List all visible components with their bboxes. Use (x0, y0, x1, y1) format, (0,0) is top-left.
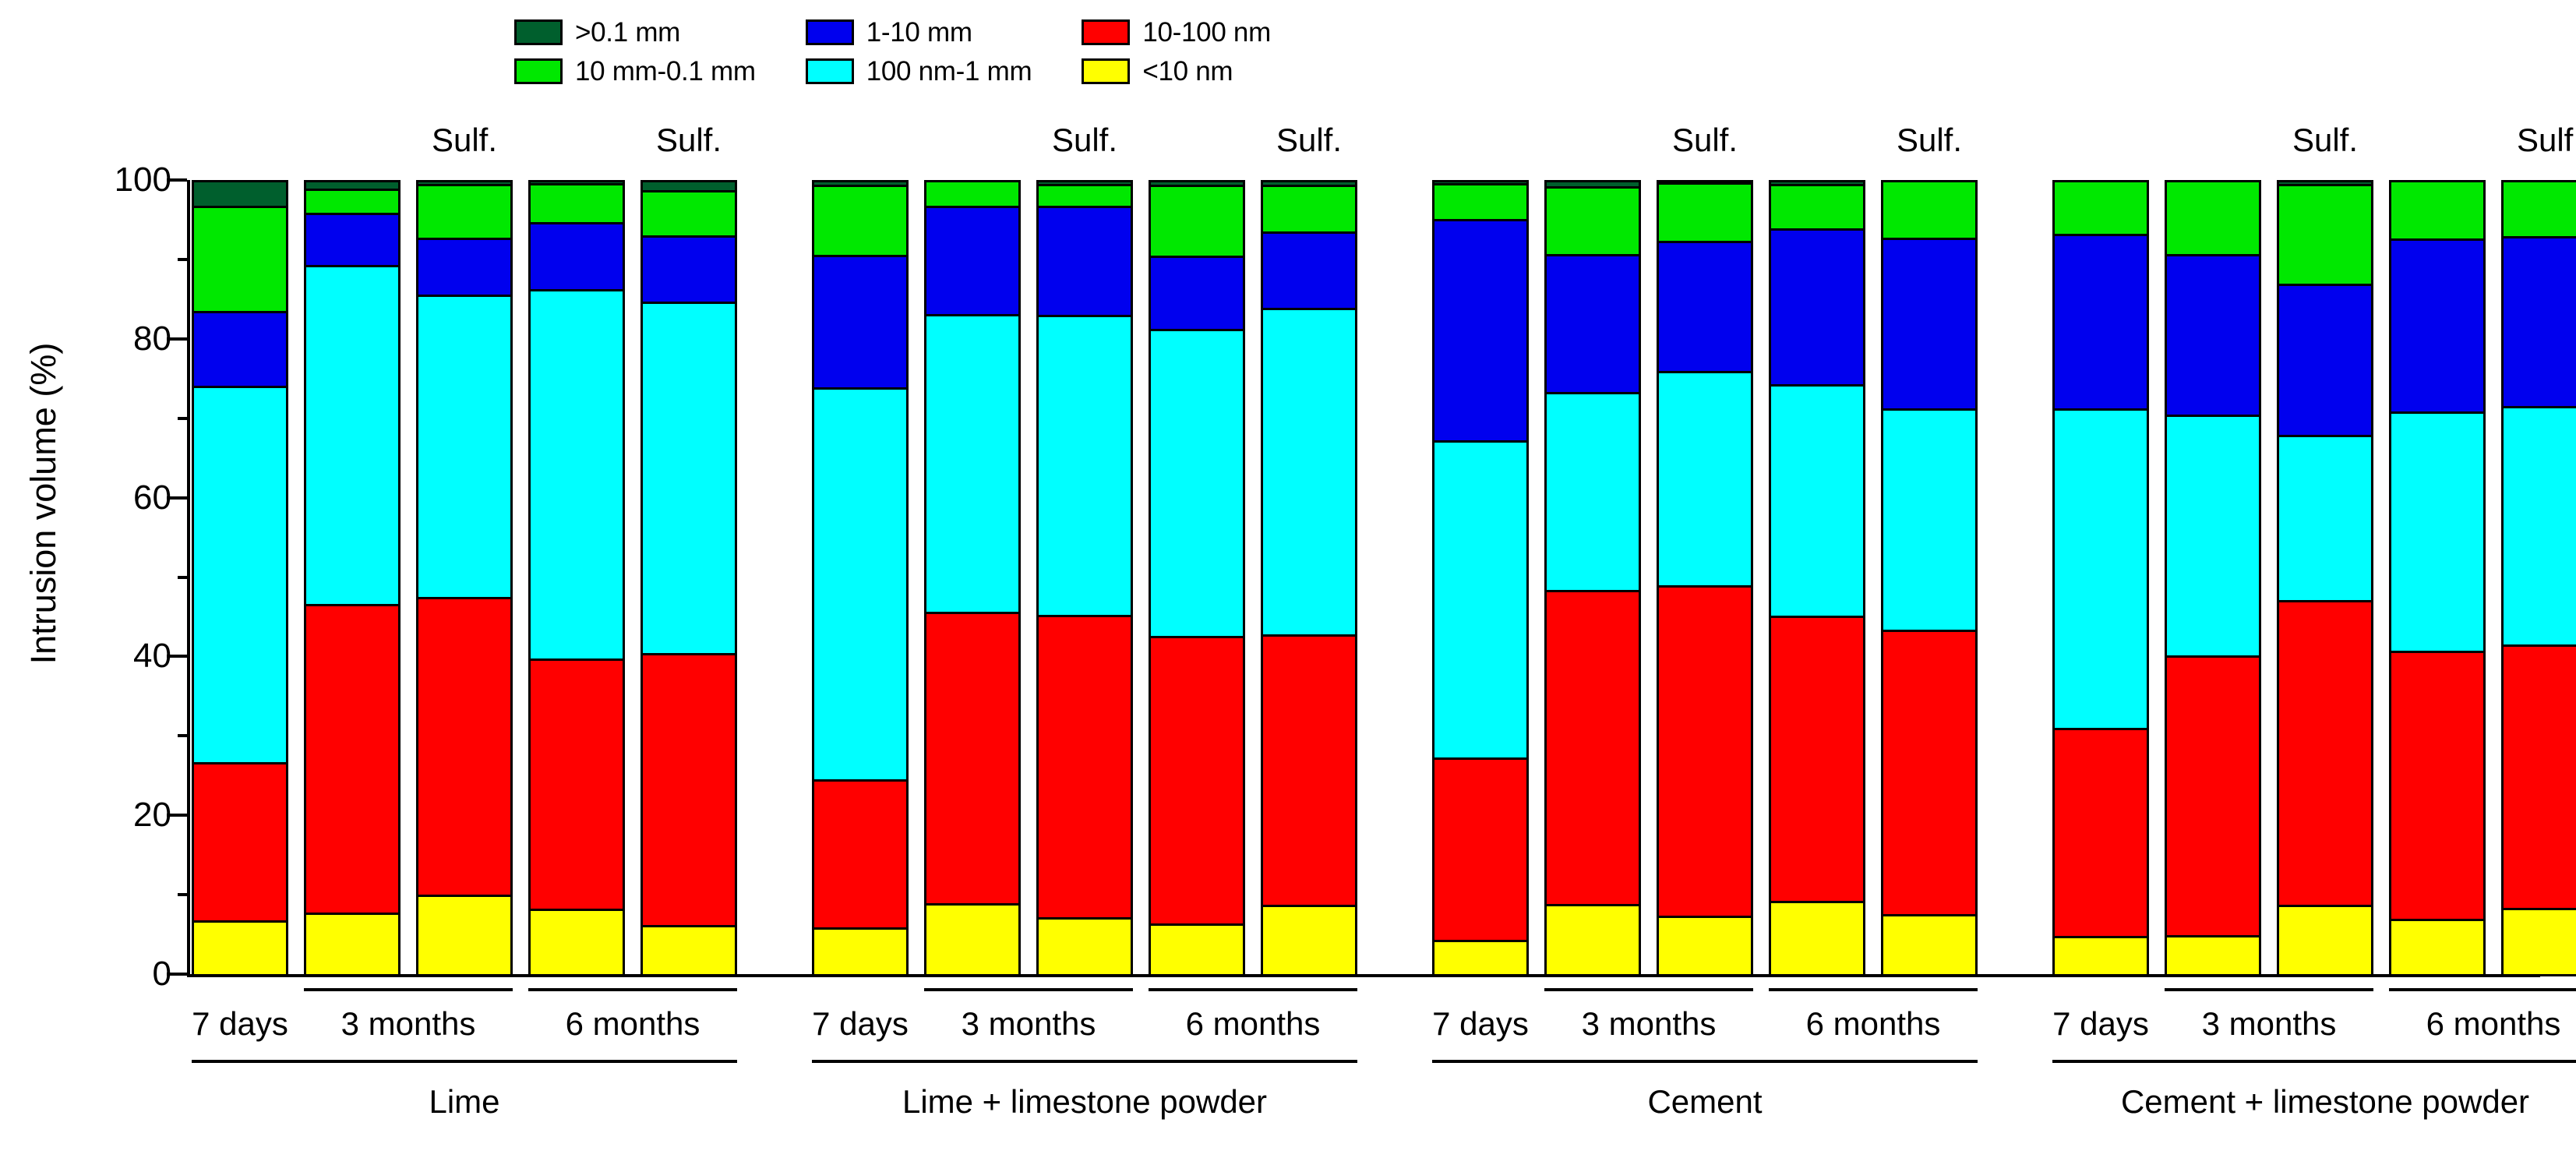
y-tick-label: 60 (55, 481, 171, 515)
sulf-annotation: Sulf. (1672, 122, 1738, 159)
bar-segment[interactable] (2389, 238, 2486, 413)
bar-segment[interactable] (2277, 905, 2373, 976)
bar-segment[interactable] (2052, 180, 2149, 236)
bar-segment[interactable] (1261, 185, 1357, 234)
bar-segment[interactable] (1544, 254, 1641, 394)
bar-segment[interactable] (192, 386, 288, 764)
y-tick-major (167, 814, 187, 817)
bar-segment[interactable] (1544, 186, 1641, 256)
material-group-rule (2052, 1060, 2576, 1063)
bar-segment[interactable] (812, 927, 909, 976)
bar-segment[interactable] (1881, 914, 1978, 976)
bar-segment[interactable] (1769, 384, 1865, 619)
bar-limelsp-3m[interactable] (924, 180, 1021, 974)
bar-segment[interactable] (1149, 329, 1245, 638)
bar-segment[interactable] (192, 206, 288, 314)
bar-segment[interactable] (1432, 183, 1529, 221)
bar-segment[interactable] (1544, 180, 1641, 189)
bar-limelsp-7d[interactable] (812, 180, 909, 974)
bar-segment[interactable] (2052, 728, 2149, 938)
time-label: 6 months (1186, 1005, 1321, 1043)
material-group-label: Cement + limestone powder (2121, 1083, 2529, 1121)
bar-cemlsp-3m[interactable] (2165, 180, 2261, 974)
bar-segment[interactable] (2052, 234, 2149, 411)
y-tick-minor (178, 417, 188, 420)
bar-segment[interactable] (1657, 241, 1753, 372)
bar-segment[interactable] (812, 387, 909, 782)
time-group-rule (924, 988, 1133, 991)
bar-segment[interactable] (640, 235, 737, 304)
bar-segment[interactable] (1657, 585, 1753, 918)
bar-segment[interactable] (1657, 916, 1753, 976)
material-group-rule (1432, 1060, 1978, 1063)
bar-segment[interactable] (192, 920, 288, 976)
bar-segment[interactable] (528, 658, 625, 911)
chart-legend: >0.1 mm1-10 mm10-100 nm10 mm-0.1 mm100 n… (514, 14, 1271, 89)
bar-cemlsp-3m-s[interactable]: Sulf. (2277, 180, 2373, 974)
time-label: 7 days (192, 1005, 288, 1043)
bar-segment[interactable] (640, 925, 737, 976)
bar-segment[interactable] (924, 206, 1021, 317)
bar-segment[interactable] (416, 597, 513, 897)
bar-segment[interactable] (640, 180, 737, 192)
legend-swatch (514, 19, 563, 45)
y-tick-label: 0 (55, 957, 171, 991)
y-tick-major (167, 337, 187, 341)
bar-segment[interactable] (192, 180, 288, 208)
bar-segment[interactable] (2277, 184, 2373, 286)
y-tick-minor (178, 576, 188, 579)
bar-segment[interactable] (304, 213, 401, 267)
y-tick-major (167, 496, 187, 500)
time-label: 6 months (1806, 1005, 1941, 1043)
bar-segment[interactable] (2052, 936, 2149, 976)
bar-segment[interactable] (304, 180, 401, 191)
legend-label: >0.1 mm (575, 19, 680, 46)
legend-label: <10 nm (1142, 58, 1233, 85)
bar-segment[interactable] (1149, 923, 1245, 976)
bar-segment[interactable] (1261, 905, 1357, 976)
bar-lime-6m-sulf[interactable]: Sulf. (640, 180, 737, 974)
bar-segment[interactable] (1881, 238, 1978, 411)
bar-segment[interactable] (304, 913, 401, 976)
legend-label: 10-100 nm (1142, 19, 1271, 46)
time-group-rule (1149, 988, 1357, 991)
y-tick-major (167, 178, 187, 182)
bar-segment[interactable] (2052, 408, 2149, 730)
bar-segment[interactable] (1769, 184, 1865, 231)
chart-plot-area: >0.1 mm1-10 mm10-100 nm10 mm-0.1 mm100 n… (0, 0, 2576, 1151)
bar-segment[interactable] (924, 180, 1021, 208)
bar-cem-6m-sulf[interactable]: Sulf. (1881, 180, 1978, 974)
bar-cem-7d[interactable] (1432, 180, 1529, 974)
bar-segment[interactable] (640, 653, 737, 927)
bar-segment[interactable] (528, 183, 625, 224)
bar-segment[interactable] (812, 779, 909, 930)
sulf-annotation: Sulf. (2517, 122, 2576, 159)
time-label: 7 days (1432, 1005, 1529, 1043)
bar-segment[interactable] (2165, 415, 2261, 658)
bar-segment[interactable] (812, 180, 909, 187)
bar-segment[interactable] (2389, 411, 2486, 654)
y-tick-label: 100 (55, 163, 171, 197)
bar-segment[interactable] (1432, 940, 1529, 976)
bar-limelsp-6m-s[interactable]: Sulf. (1261, 180, 1357, 974)
bar-segment[interactable] (1036, 315, 1133, 617)
bar-segment[interactable] (528, 909, 625, 976)
legend-label: 100 nm-1 mm (866, 58, 1032, 85)
bar-segment[interactable] (2501, 236, 2576, 408)
bar-segment[interactable] (1544, 904, 1641, 976)
material-group-label: Cement (1647, 1083, 1762, 1121)
bar-segment[interactable] (1036, 615, 1133, 919)
material-group-label: Lime + limestone powder (902, 1083, 1267, 1121)
bar-lime-7d[interactable] (192, 180, 288, 974)
legend-label: 1-10 mm (866, 19, 972, 46)
time-group-rule (1544, 988, 1753, 991)
bar-segment[interactable] (416, 238, 513, 296)
time-label: 3 months (2202, 1005, 2337, 1043)
bar-segment[interactable] (1432, 219, 1529, 443)
bar-lime-3m-sulf[interactable]: Sulf. (416, 180, 513, 974)
bar-segment[interactable] (416, 180, 513, 186)
time-group-rule (1769, 988, 1978, 991)
bar-segment[interactable] (1769, 901, 1865, 976)
time-label: 6 months (566, 1005, 700, 1043)
bar-segment[interactable] (924, 314, 1021, 614)
bar-segment[interactable] (2277, 180, 2373, 186)
legend-label: 10 mm-0.1 mm (575, 58, 756, 85)
bar-segment[interactable] (640, 302, 737, 655)
bar-segment[interactable] (1544, 392, 1641, 592)
y-tick-major (167, 655, 187, 658)
bar-segment[interactable] (2165, 935, 2261, 976)
bar-segment[interactable] (640, 190, 737, 238)
bar-segment[interactable] (2501, 180, 2576, 238)
bar-segment[interactable] (2165, 655, 2261, 937)
y-tick-minor (178, 893, 188, 896)
bar-segment[interactable] (304, 265, 401, 606)
bar-segment[interactable] (1149, 185, 1245, 258)
bar-segment[interactable] (812, 255, 909, 390)
bar-cemlsp-6m-s[interactable]: Sulf. (2501, 180, 2576, 974)
legend-swatch (514, 58, 563, 84)
y-tick-major (167, 973, 187, 976)
bar-segment[interactable] (1769, 616, 1865, 903)
legend-entry: <10 nm (1082, 58, 1271, 85)
bar-segment[interactable] (1261, 308, 1357, 637)
bar-segment[interactable] (2389, 919, 2486, 976)
bar-segment[interactable] (2501, 908, 2576, 976)
bar-segment[interactable] (1432, 180, 1529, 185)
bar-lime-3m[interactable] (304, 180, 401, 974)
legend-swatch (1082, 19, 1130, 45)
bar-segment[interactable] (192, 311, 288, 388)
bar-limelsp-6m[interactable] (1149, 180, 1245, 974)
material-group-rule (812, 1060, 1357, 1063)
bar-segment[interactable] (1544, 590, 1641, 907)
bar-segment[interactable] (1261, 180, 1357, 187)
bar-segment[interactable] (416, 184, 513, 240)
bar-segment[interactable] (1881, 180, 1978, 240)
bar-segment[interactable] (1432, 757, 1529, 942)
bar-segment[interactable] (1036, 917, 1133, 976)
bar-segment[interactable] (192, 762, 288, 923)
bar-segment[interactable] (2165, 254, 2261, 417)
time-group-rule (304, 988, 513, 991)
sulf-annotation: Sulf. (1897, 122, 1962, 159)
bar-cem-3m-sulf[interactable]: Sulf. (1657, 180, 1753, 974)
legend-swatch (806, 19, 854, 45)
bar-segment[interactable] (1432, 440, 1529, 760)
bar-segment[interactable] (1657, 181, 1753, 243)
bar-segment[interactable] (528, 222, 625, 291)
sulf-annotation: Sulf. (2292, 122, 2358, 159)
bar-segment[interactable] (1881, 630, 1978, 916)
y-tick-label: 80 (55, 322, 171, 356)
time-group-rule (2165, 988, 2373, 991)
sulf-annotation: Sulf. (656, 122, 722, 159)
bar-segment[interactable] (304, 604, 401, 914)
bar-segment[interactable] (2389, 180, 2486, 241)
bar-segment[interactable] (2277, 600, 2373, 907)
bar-segment[interactable] (528, 289, 625, 662)
legend-swatch (806, 58, 854, 84)
bar-segment[interactable] (528, 180, 625, 185)
time-label: 3 months (1582, 1005, 1717, 1043)
bar-segment[interactable] (1261, 634, 1357, 907)
material-group-rule (192, 1060, 737, 1063)
bar-segment[interactable] (416, 895, 513, 976)
bar-segment[interactable] (1036, 206, 1133, 318)
bar-segment[interactable] (1769, 180, 1865, 186)
time-group-rule (528, 988, 737, 991)
time-label: 3 months (962, 1005, 1096, 1043)
bar-segment[interactable] (812, 185, 909, 257)
bar-segment[interactable] (416, 295, 513, 599)
bar-segment[interactable] (1149, 256, 1245, 331)
bar-cemlsp-6m[interactable] (2389, 180, 2486, 974)
bar-segment[interactable] (1036, 180, 1133, 186)
bar-segment[interactable] (924, 903, 1021, 976)
bar-segment[interactable] (1881, 408, 1978, 631)
bar-limelsp-3m-s[interactable]: Sulf. (1036, 180, 1133, 974)
bar-segment[interactable] (1149, 636, 1245, 926)
bar-segment[interactable] (2277, 284, 2373, 437)
time-label: 7 days (2052, 1005, 2149, 1043)
bar-segment[interactable] (1036, 184, 1133, 208)
bar-cemlsp-7d[interactable] (2052, 180, 2149, 974)
y-axis-tick-labels: 020406080100 (55, 0, 171, 1151)
y-tick-minor (178, 258, 188, 261)
bar-segment[interactable] (924, 612, 1021, 906)
bar-segment[interactable] (1769, 228, 1865, 387)
bar-segment[interactable] (2277, 435, 2373, 602)
legend-entry: 100 nm-1 mm (806, 58, 1032, 85)
bar-segment[interactable] (1149, 180, 1245, 187)
bar-segment[interactable] (2165, 180, 2261, 256)
time-label: 3 months (341, 1005, 476, 1043)
time-label: 6 months (2426, 1005, 2561, 1043)
bar-cem-6m[interactable] (1769, 180, 1865, 974)
bar-segment[interactable] (1657, 371, 1753, 588)
bar-cem-3m[interactable] (1544, 180, 1641, 974)
legend-swatch (1082, 58, 1130, 84)
y-tick-minor (178, 734, 188, 737)
time-group-rule (2389, 988, 2576, 991)
legend-entry: >0.1 mm (514, 19, 756, 46)
material-group-label: Lime (429, 1083, 499, 1121)
time-label: 7 days (812, 1005, 909, 1043)
bar-lime-6m[interactable] (528, 180, 625, 974)
bar-segment[interactable] (2501, 644, 2576, 910)
bar-segment[interactable] (1657, 180, 1753, 185)
bar-segment[interactable] (2501, 406, 2576, 647)
legend-entry: 10 mm-0.1 mm (514, 58, 756, 85)
sulf-annotation: Sulf. (1052, 122, 1117, 159)
y-tick-label: 20 (55, 798, 171, 832)
legend-entry: 10-100 nm (1082, 19, 1271, 46)
y-tick-label: 40 (55, 639, 171, 673)
bar-segment[interactable] (304, 189, 401, 215)
sulf-annotation: Sulf. (432, 122, 497, 159)
legend-entry: 1-10 mm (806, 19, 1032, 46)
y-axis-line (187, 180, 190, 977)
bar-segment[interactable] (1261, 231, 1357, 310)
sulf-annotation: Sulf. (1276, 122, 1342, 159)
bar-segment[interactable] (2389, 651, 2486, 920)
